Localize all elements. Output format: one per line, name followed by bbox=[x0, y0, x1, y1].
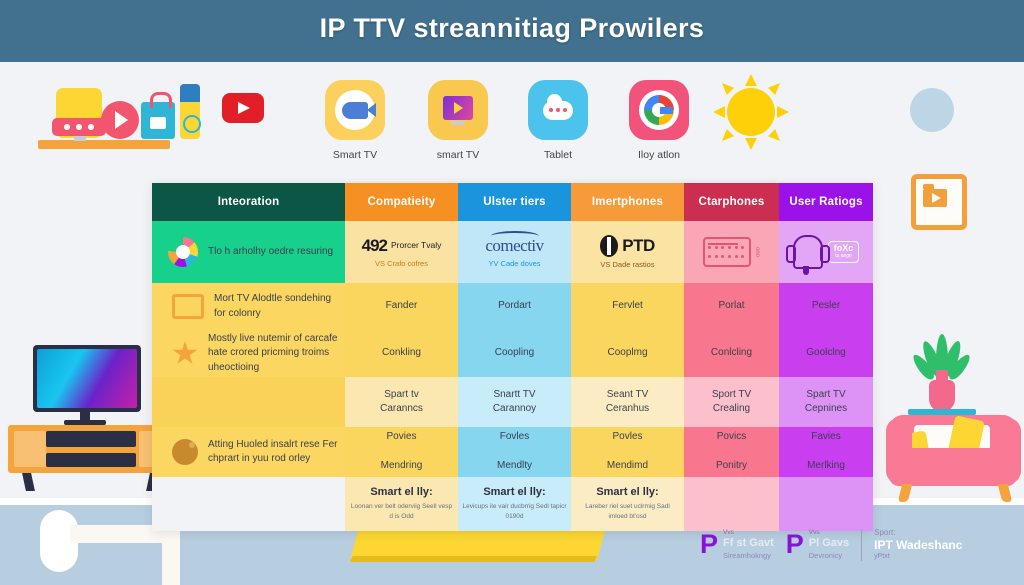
logo-subtext: Prorcer Tvaly bbox=[391, 241, 441, 251]
row-feature-cell: Mostly live nutemir of carcafe hate cror… bbox=[152, 330, 345, 377]
table-header-row: Inteoration Compatieity Ulster tiers Ime… bbox=[152, 183, 873, 221]
logo-caption: VS Dade rastios bbox=[600, 260, 654, 269]
table-cell: Sport TVCrealing bbox=[684, 377, 779, 427]
badge-line-1: Vvs bbox=[723, 529, 774, 537]
calendar-side-label: ono bbox=[754, 247, 760, 257]
table-cell: Spart TVCepnines bbox=[779, 377, 873, 427]
logo-text: PTD bbox=[622, 236, 655, 256]
app-tile[interactable] bbox=[629, 80, 689, 140]
app-tile[interactable] bbox=[528, 80, 588, 140]
white-pipe-shape bbox=[162, 525, 180, 585]
table-cell-logo: foXcta ango bbox=[779, 221, 873, 283]
feature-text: Atting Huoled insalrt rese Fer chprart i… bbox=[208, 438, 341, 467]
play-button-icon bbox=[101, 101, 139, 139]
shelf-dot-icon bbox=[64, 124, 70, 130]
app-tile[interactable] bbox=[325, 80, 385, 140]
shelf-board bbox=[38, 140, 170, 149]
table-cell: Cooplmg bbox=[571, 330, 684, 377]
row-feature-cell: Atting Huoled insalrt rese Fer chprart i… bbox=[152, 427, 345, 477]
table-cell bbox=[779, 477, 873, 531]
table-cell: PovicsPonitry bbox=[684, 427, 779, 477]
cell-subtext: Loonan ver belt oderviig Seell vesp d is… bbox=[349, 502, 454, 522]
table-cell: FaviesMerlking bbox=[779, 427, 873, 477]
feature-text: Tlo h arholhy oedre resuring bbox=[208, 245, 333, 260]
column-header-user-ratings[interactable]: User Ratiogs bbox=[779, 183, 873, 221]
bag-face-icon bbox=[150, 117, 166, 129]
table-cell: FovlesMendlty bbox=[458, 427, 571, 477]
table-cell: Pesler bbox=[779, 283, 873, 330]
column-header-starphones[interactable]: Ctarphones bbox=[684, 183, 779, 221]
logo-caption: VS Crafo cofres bbox=[375, 259, 428, 268]
table-row: Mort TV Alodtle sondehing for colonry Fa… bbox=[152, 283, 873, 330]
table-cell: Conkling bbox=[345, 330, 458, 377]
table-row: Spart tvCaranncs Snartt TVCarannoy Seant… bbox=[152, 377, 873, 427]
row-feature-cell: Mort TV Alodtle sondehing for colonry bbox=[152, 283, 345, 330]
header-band: IP TTV streannitiag Prowilers bbox=[0, 0, 1024, 62]
app-icon-iloy-atlon[interactable]: Iloy atlon bbox=[629, 80, 689, 161]
badge-line-1: Vvs bbox=[809, 529, 849, 537]
feature-text: Mostly live nutemir of carcafe hate cror… bbox=[208, 332, 341, 376]
table-cell: Coopling bbox=[458, 330, 571, 377]
can-ring-icon bbox=[183, 115, 201, 133]
table-cell: Pordart bbox=[458, 283, 571, 330]
shelf-dot-icon bbox=[76, 124, 82, 130]
column-header-integration[interactable]: Inteoration bbox=[152, 183, 345, 221]
table-row: Mostly live nutemir of carcafe hate cror… bbox=[152, 330, 873, 377]
page-title: IP TTV streannitiag Prowilers bbox=[0, 13, 1024, 44]
cell-title: Smart el lly: bbox=[596, 486, 658, 498]
table-cell-logo: 492 Prorcer Tvaly VS Crafo cofres bbox=[345, 221, 458, 283]
app-icon-smart-tv-1[interactable]: Smart TV bbox=[325, 80, 385, 161]
cell-title: Smart el lly: bbox=[483, 486, 545, 498]
table-cell: Fervlet bbox=[571, 283, 684, 330]
yellow-rug-edge bbox=[350, 556, 610, 562]
badge-line-2: Pl Gavs bbox=[809, 537, 849, 551]
app-label: smart TV bbox=[428, 149, 488, 161]
cell-title: Smart el lly: bbox=[370, 486, 432, 498]
row-feature-cell: Tlo h arholhy oedre resuring bbox=[152, 221, 345, 283]
app-icon-tablet[interactable]: Tablet bbox=[528, 80, 588, 161]
logo-caption: YV Cade doves bbox=[488, 259, 540, 268]
app-tile[interactable] bbox=[428, 80, 488, 140]
table-cell: PovlesMendimd bbox=[571, 427, 684, 477]
badge-line-2: Ff st Gavt bbox=[723, 537, 774, 551]
provider-badge[interactable]: P Vvs Ff st Gavt Sireamhokngy bbox=[700, 529, 774, 560]
table-row: Tlo h arholhy oedre resuring 492 Prorcer… bbox=[152, 221, 873, 283]
column-header-user-tiers[interactable]: Ulster tiers bbox=[458, 183, 571, 221]
app-icon-smart-tv-2[interactable]: smart TV bbox=[428, 80, 488, 161]
monitor-play-icon bbox=[443, 96, 473, 125]
table-cell: Smart el lly: Levicups ile vair ducbrrig… bbox=[458, 477, 571, 531]
table-cell: Seant TVCeranhus bbox=[571, 377, 684, 427]
table-cell-logo: ono bbox=[684, 221, 779, 283]
youtube-icon[interactable] bbox=[222, 93, 264, 123]
logo-text: 492 bbox=[362, 236, 387, 256]
table-row: Atting Huoled insalrt rese Fer chprart i… bbox=[152, 427, 873, 477]
table-cell: Smart el lly: Lareber riel suet uclrmig … bbox=[571, 477, 684, 531]
app-label: Iloy atlon bbox=[629, 149, 689, 161]
google-g-icon bbox=[639, 90, 679, 130]
sphere-icon bbox=[172, 439, 198, 465]
folder-play-icon[interactable] bbox=[911, 174, 967, 230]
cell-subtext: Lareber riel suet uclrmig Sadl imloed bt… bbox=[575, 502, 680, 522]
table-cell-logo: comectiv YV Cade doves bbox=[458, 221, 571, 283]
table-cell: Spart tvCaranncs bbox=[345, 377, 458, 427]
sport-line-2: IPT Wadeshanc bbox=[874, 538, 962, 553]
robot-icon bbox=[793, 235, 823, 269]
cloud-chat-icon bbox=[543, 101, 573, 120]
provider-badge[interactable]: P Vvs Pl Gavs Devronicy bbox=[786, 529, 849, 560]
column-header-smartphones[interactable]: Imertphones bbox=[571, 183, 684, 221]
app-label: Smart TV bbox=[325, 149, 385, 161]
fish-icon bbox=[335, 90, 375, 130]
row-feature-cell bbox=[152, 377, 345, 427]
column-header-compatibility[interactable]: Compatieity bbox=[345, 183, 458, 221]
p-mark-icon: P bbox=[700, 531, 718, 558]
sport-line-1: Sport: bbox=[874, 528, 962, 538]
table-cell: Goolclng bbox=[779, 330, 873, 377]
star-icon bbox=[172, 341, 198, 366]
badge-line-3: Devronicy bbox=[809, 551, 849, 560]
table-cell: Smart el lly: Loonan ver belt oderviig S… bbox=[345, 477, 458, 531]
shelf-tv-foot bbox=[74, 136, 86, 141]
table-cell: Porlat bbox=[684, 283, 779, 330]
donut-chart-icon bbox=[168, 237, 198, 267]
tv-icon bbox=[172, 294, 204, 319]
table-cell: Snartt TVCarannoy bbox=[458, 377, 571, 427]
row-feature-cell bbox=[152, 477, 345, 531]
can-top-icon bbox=[180, 84, 200, 102]
table-cell-logo: PTD VS Dade rastios bbox=[571, 221, 684, 283]
cell-subtext: Levicups ile vair ducbrrig Sedl tapicr 0… bbox=[462, 502, 567, 522]
table-row: Smart el lly: Loonan ver belt oderviig S… bbox=[152, 477, 873, 531]
badge-line-3: Sireamhokngy bbox=[723, 551, 774, 560]
calendar-icon bbox=[703, 237, 751, 267]
logo-text: comectiv bbox=[485, 236, 543, 256]
bag-handle-icon bbox=[150, 92, 172, 108]
blue-circle-decoration bbox=[910, 88, 954, 132]
sport-line-3: yPtxt bbox=[874, 553, 962, 562]
table-cell: Conlcling bbox=[684, 330, 779, 377]
table-cell: Fander bbox=[345, 283, 458, 330]
ptd-mark-icon bbox=[600, 235, 618, 257]
strip-divider bbox=[861, 529, 862, 561]
comparison-table: Inteoration Compatieity Ulster tiers Ime… bbox=[152, 183, 873, 531]
shelf-dot-icon bbox=[88, 124, 94, 130]
p-mark-icon: P bbox=[786, 531, 804, 558]
table-cell bbox=[684, 477, 779, 531]
table-cell: PoviesMendring bbox=[345, 427, 458, 477]
foxc-badge: foXcta ango bbox=[828, 241, 860, 262]
infographic-canvas: IP TTV streannitiag Prowilers Smart TV bbox=[0, 0, 1024, 585]
app-label: Tablet bbox=[528, 149, 588, 161]
feature-text: Mort TV Alodtle sondehing for colonry bbox=[214, 292, 341, 321]
sport-label-group: Sport: IPT Wadeshanc yPtxt bbox=[874, 528, 962, 562]
bottom-logo-strip: P Vvs Ff st Gavt Sireamhokngy P Vvs Pl G… bbox=[700, 528, 962, 562]
